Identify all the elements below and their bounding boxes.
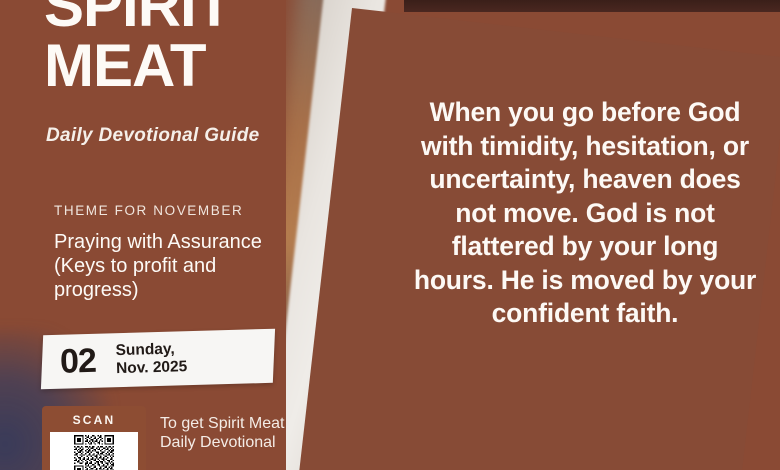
brand-logo: SPIRIT MEAT xyxy=(44,0,344,94)
qr-code-svg xyxy=(53,435,135,470)
qr-code-icon[interactable] xyxy=(50,432,138,470)
date-badge-inner: 02 Sunday, Nov. 2025 xyxy=(41,329,274,389)
date-month-year: Nov. 2025 xyxy=(116,358,188,378)
brand-title-line1: SPIRIT xyxy=(44,0,344,34)
qr-note-text: To get Spirit Meat Daily Devotional xyxy=(160,414,290,452)
theme-label: THEME FOR NOVEMBER xyxy=(54,203,243,218)
date-weekday-monthyear: Sunday, Nov. 2025 xyxy=(115,340,187,378)
theme-text: Praying with Assurance (Keys to profit a… xyxy=(54,230,294,302)
quote-text: When you go before God with timidity, he… xyxy=(412,96,758,331)
left-content-column: SPIRIT MEAT Daily Devotional Guide THEME… xyxy=(0,0,340,470)
date-day-number: 02 xyxy=(60,344,97,379)
qr-scan-label: SCAN xyxy=(42,406,146,427)
qr-code-block[interactable]: SCAN xyxy=(42,406,146,470)
brand-title-line2: MEAT xyxy=(44,38,344,94)
devotional-poster: SPIRIT MEAT Daily Devotional Guide THEME… xyxy=(0,0,780,470)
background-top-dark-strip xyxy=(404,0,780,12)
date-badge: 02 Sunday, Nov. 2025 xyxy=(41,329,275,390)
brand-tagline: Daily Devotional Guide xyxy=(46,125,260,147)
date-weekday: Sunday, xyxy=(115,340,187,360)
